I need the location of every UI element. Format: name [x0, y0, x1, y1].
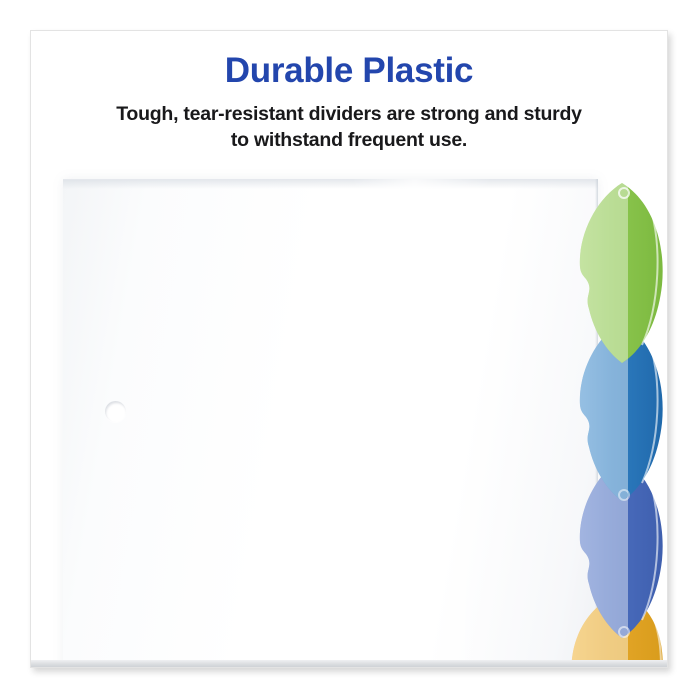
sheet-sheen [352, 179, 491, 668]
divider-sheet [63, 179, 598, 668]
page-title: Durable Plastic [31, 49, 667, 93]
subtitle-line-1: Tough, tear-resistant dividers are stron… [116, 103, 582, 125]
punch-hole-top [105, 401, 126, 422]
base-strip [31, 660, 667, 667]
tab-green-body [580, 183, 663, 363]
index-tab-green[interactable] [558, 181, 668, 366]
sheet-top-bevel [63, 179, 598, 189]
page-subtitle: Tough, tear-resistant dividers are stron… [69, 101, 629, 153]
product-feature-card: Durable Plastic Tough, tear-resistant di… [30, 30, 668, 668]
subtitle-line-2: to withstand frequent use. [231, 129, 467, 151]
headline-block: Durable Plastic Tough, tear-resistant di… [31, 49, 667, 153]
